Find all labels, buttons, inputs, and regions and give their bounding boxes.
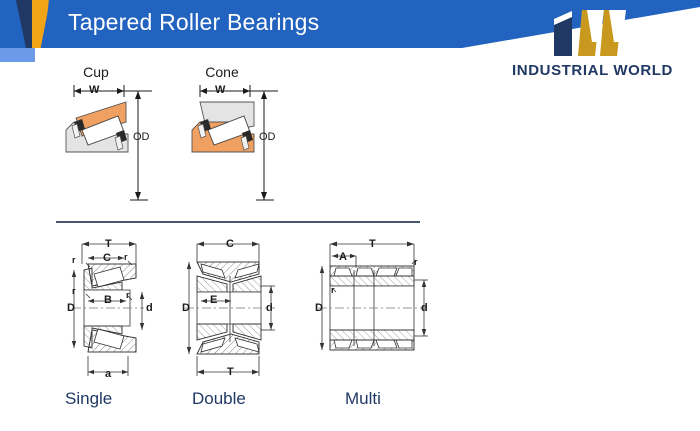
double-label-T: T [227, 366, 234, 378]
single-caption: Single [65, 389, 112, 409]
double-label-d: d [266, 302, 273, 314]
double-label-E: E [210, 294, 217, 306]
cone-od-dimension [250, 88, 282, 203]
multi-bearing-diagram [312, 230, 437, 385]
single-label-r4: r [126, 290, 130, 300]
multi-label-d: d [421, 302, 428, 314]
double-bearing-diagram [175, 230, 290, 385]
iw-monogram-icon [548, 8, 658, 56]
double-label-D: D [182, 302, 190, 314]
multi-label-T: T [369, 238, 376, 250]
slide-page: Tapered Roller Bearings INDUSTRIAL WORLD… [0, 0, 700, 431]
single-bearing-diagram [58, 230, 173, 385]
cup-caption: Cup [66, 64, 126, 80]
multi-label-D: D [315, 302, 323, 314]
cone-od-label: OD [259, 131, 276, 143]
single-label-r1: r [72, 255, 76, 265]
multi-label-A: A [339, 251, 347, 263]
single-label-C: C [103, 252, 111, 264]
single-label-D: D [67, 302, 75, 314]
multi-label-r2: r [331, 285, 335, 295]
section-divider [56, 221, 420, 223]
multi-label-r1: r [414, 257, 418, 267]
cup-od-dimension [124, 88, 156, 203]
single-label-d: d [146, 302, 153, 314]
cone-width-label: W [215, 84, 225, 96]
page-title: Tapered Roller Bearings [68, 9, 319, 36]
cup-od-label: OD [133, 131, 150, 143]
double-label-C: C [226, 238, 234, 250]
header-accent-block [0, 48, 35, 62]
cone-caption: Cone [192, 64, 252, 80]
single-label-r2: r [124, 252, 128, 262]
single-label-T: T [105, 238, 112, 250]
cup-width-label: W [89, 84, 99, 96]
single-label-r3: r [72, 286, 76, 296]
single-label-a: a [105, 368, 111, 380]
double-caption: Double [192, 389, 246, 409]
brand-logo: INDUSTRIAL WORLD [490, 8, 695, 80]
single-label-B: B [104, 294, 112, 306]
multi-caption: Multi [345, 389, 381, 409]
company-name: INDUSTRIAL WORLD [490, 62, 695, 79]
